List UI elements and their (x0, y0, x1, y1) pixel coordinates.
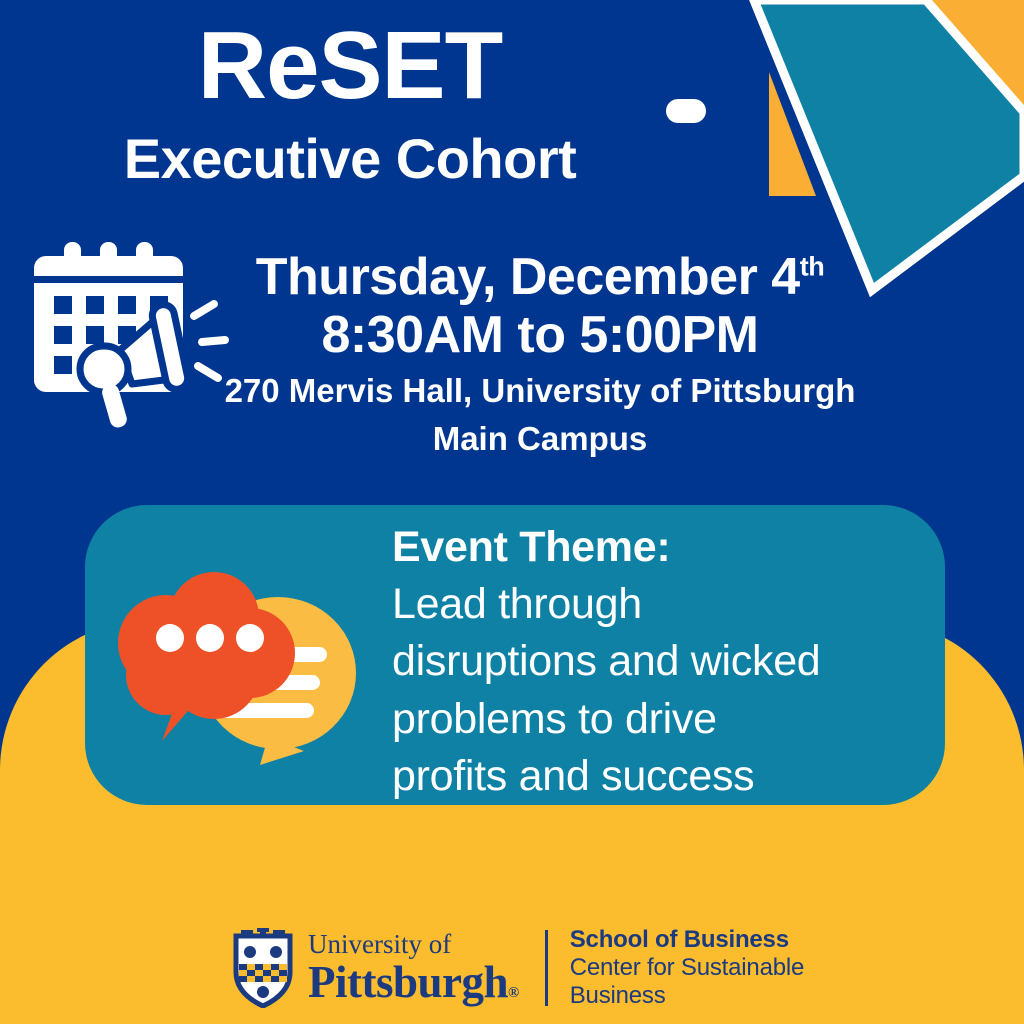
unit-center-line-1: Center for Sustainable (570, 954, 804, 982)
event-date-ordinal: th (800, 252, 825, 282)
page-title: ReSET (0, 18, 700, 114)
event-theme-text: Event Theme: Lead through disruptions an… (392, 519, 932, 805)
event-date: Thursday, December 4th (180, 248, 900, 306)
event-theme-line-1: Lead through (392, 576, 932, 633)
event-details: Thursday, December 4th 8:30AM to 5:00PM … (180, 248, 900, 459)
poster-canvas: ReSET Executive Cohort (0, 0, 1024, 1024)
event-theme-heading: Event Theme: (392, 519, 932, 576)
shield-checkerboard (239, 964, 287, 982)
event-date-text: Thursday, December 4 (256, 248, 800, 306)
wordmark-pittsburgh: Pittsburgh® (308, 960, 519, 1005)
wordmark-university-of: University of (308, 931, 519, 958)
logo-divider (545, 930, 548, 1006)
event-venue-line1: 270 Mervis Hall, University of Pittsburg… (180, 370, 900, 411)
event-theme-line-3: problems to drive (392, 691, 932, 748)
event-time: 8:30AM to 5:00PM (180, 306, 900, 364)
calendar-header-gap (34, 276, 183, 283)
event-theme-line-2: disruptions and wicked (392, 633, 932, 690)
unit-name: School of Business Center for Sustainabl… (570, 926, 804, 1011)
event-venue-line2: Main Campus (180, 418, 900, 459)
logo-lockup: University of Pittsburgh® School of Busi… (232, 925, 804, 1011)
unit-center-line-2: Business (570, 982, 804, 1010)
title-block: ReSET Executive Cohort (0, 18, 700, 189)
pitt-wordmark: University of Pittsburgh® (308, 931, 519, 1005)
registered-mark: ® (508, 985, 519, 1001)
event-theme-line-4: profits and success (392, 748, 932, 805)
shield-dot-bottom (257, 986, 269, 998)
wordmark-pittsburgh-text: Pittsburgh (308, 957, 508, 1007)
page-subtitle: Executive Cohort (0, 130, 700, 189)
speech-bubbles-icon (118, 565, 388, 770)
pitt-shield-icon (232, 928, 294, 1008)
unit-school-of-business: School of Business (570, 926, 804, 954)
